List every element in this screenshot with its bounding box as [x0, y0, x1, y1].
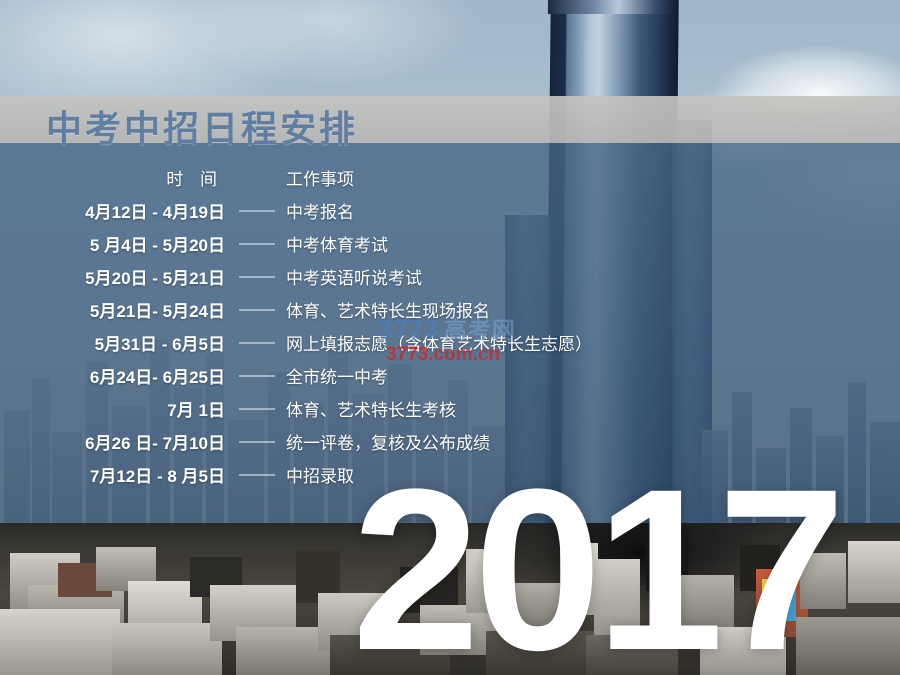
- row-task: 全市统一中考: [286, 363, 388, 388]
- skyscraper-crown: [548, 0, 676, 14]
- row-date: 6月26 日- 7月10日: [0, 429, 225, 454]
- row-date: 5月21日- 5月24日: [0, 297, 225, 322]
- row-dash-icon: [239, 276, 275, 278]
- row-date: 4月12日 - 4月19日: [0, 198, 225, 223]
- row-dash-icon: [239, 243, 275, 245]
- row-task: 体育、艺术特长生考核: [286, 396, 456, 421]
- table-row: 7月 1日 体育、艺术特长生考核: [0, 392, 900, 425]
- row-dash-icon: [239, 342, 275, 344]
- row-date: 6月24日- 6月25日: [0, 363, 225, 388]
- row-task: 体育、艺术特长生现场报名: [286, 297, 490, 322]
- row-task: 中考体育考试: [286, 231, 388, 256]
- row-date: 5 月4日 - 5月20日: [0, 231, 225, 256]
- row-date: 7月12日 - 8 月5日: [0, 462, 225, 487]
- row-date: 7月 1日: [0, 396, 225, 421]
- row-task: 网上填报志愿（含体育艺术特长生志愿）: [286, 330, 592, 355]
- header-dash-spacer: [239, 176, 275, 178]
- row-dash-icon: [239, 474, 275, 476]
- row-dash-icon: [239, 210, 275, 212]
- row-dash-icon: [239, 408, 275, 410]
- table-header-row: 时 间 工作事项: [0, 160, 900, 194]
- row-dash-icon: [239, 375, 275, 377]
- table-row: 5 月4日 - 5月20日 中考体育考试: [0, 227, 900, 260]
- table-row: 5月31日 - 6月5日 网上填报志愿（含体育艺术特长生志愿）: [0, 326, 900, 359]
- table-row: 5月21日- 5月24日 体育、艺术特长生现场报名: [0, 293, 900, 326]
- column-header-date: 时 间: [0, 165, 225, 190]
- table-row: 4月12日 - 4月19日 中考报名: [0, 194, 900, 227]
- row-task: 中考英语听说考试: [286, 264, 422, 289]
- table-row: 6月24日- 6月25日 全市统一中考: [0, 359, 900, 392]
- row-date: 5月20日 - 5月21日: [0, 264, 225, 289]
- column-header-task: 工作事项: [286, 165, 354, 190]
- row-dash-icon: [239, 441, 275, 443]
- row-date: 5月31日 - 6月5日: [0, 330, 225, 355]
- table-row: 5月20日 - 5月21日 中考英语听说考试: [0, 260, 900, 293]
- row-task: 中考报名: [286, 198, 354, 223]
- year-heading: 2017: [352, 455, 840, 675]
- poster-root: 中考中招日程安排 时 间 工作事项 4月12日 - 4月19日 中考报名 5 月…: [0, 0, 900, 675]
- row-dash-icon: [239, 309, 275, 311]
- page-title: 中考中招日程安排: [46, 100, 358, 152]
- row-task: 中招录取: [286, 462, 354, 487]
